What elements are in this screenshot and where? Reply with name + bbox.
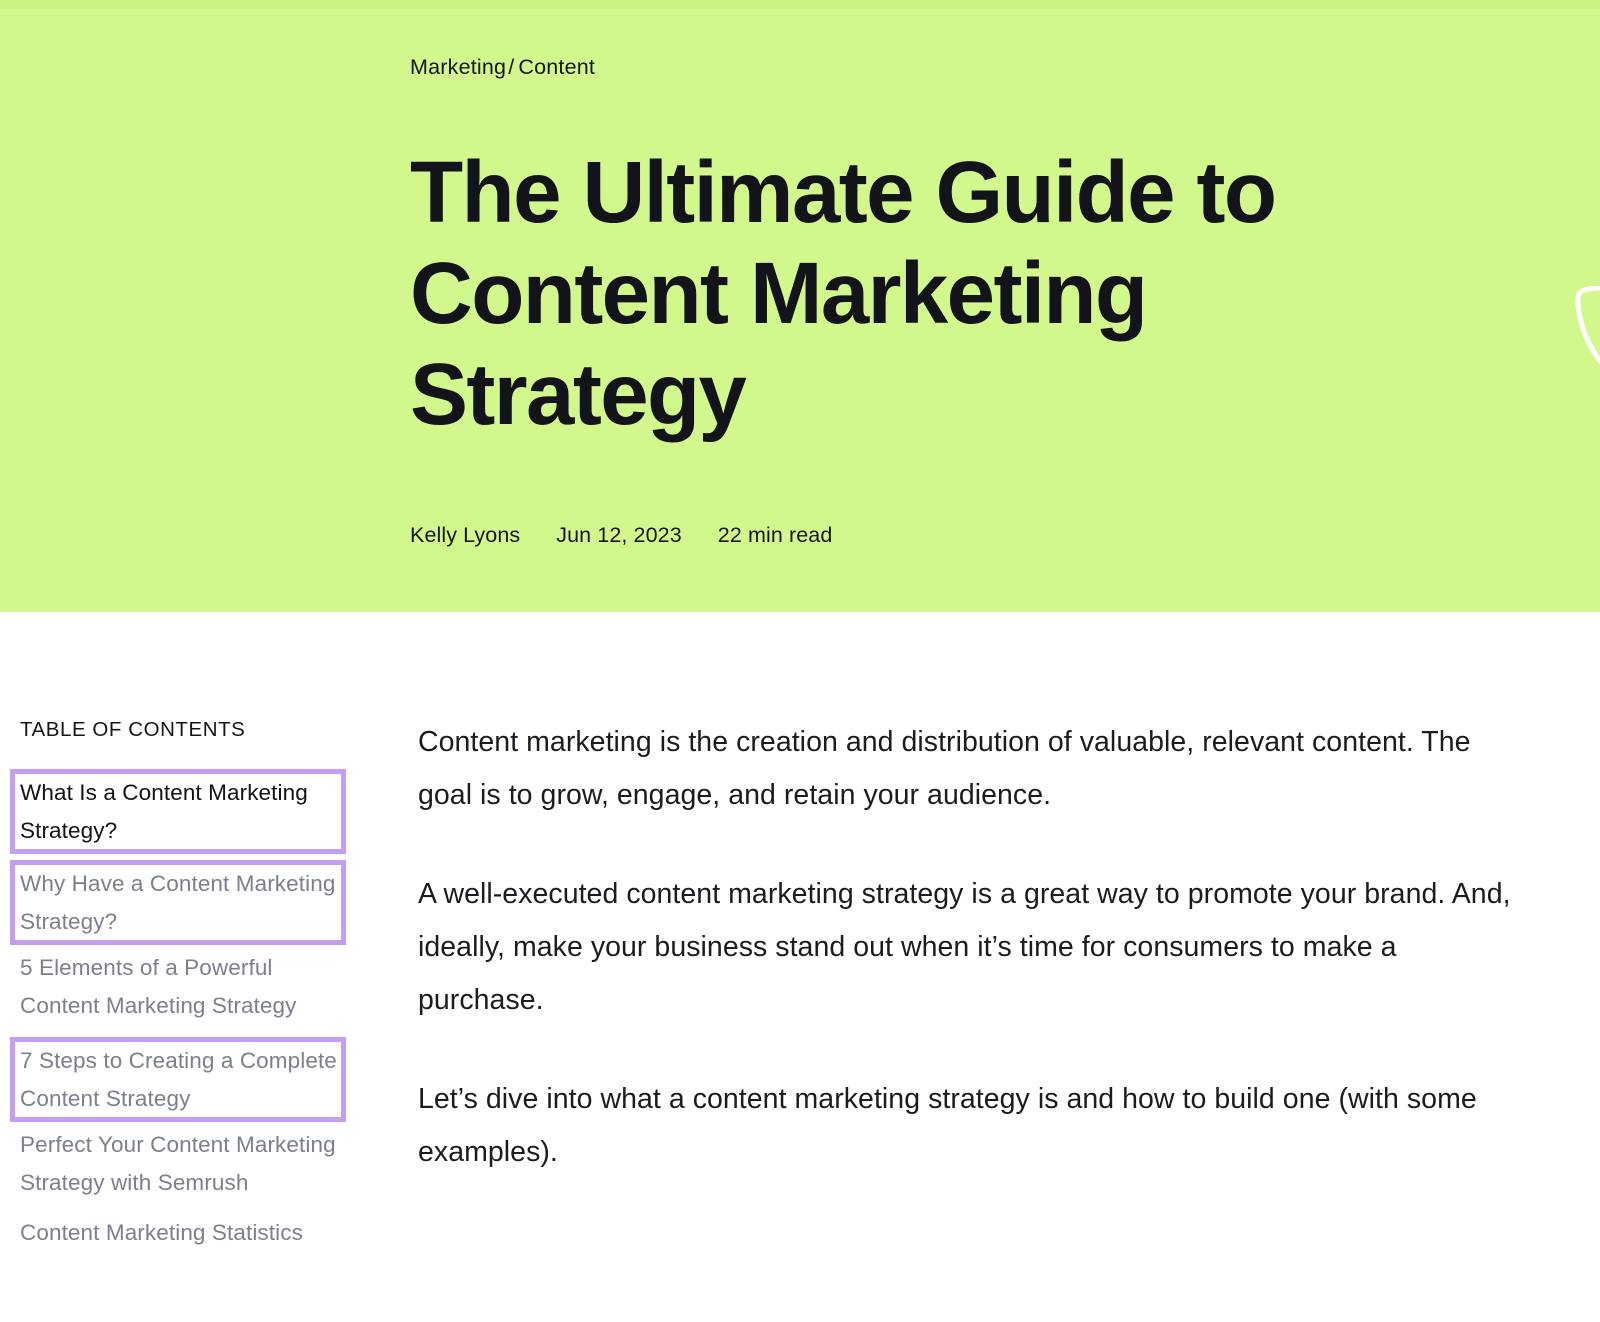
toc-item-what-is-a-content-marketing-strategy[interactable]: What Is a Content Marketing Strategy?: [10, 769, 346, 854]
article-paragraph: Content marketing is the creation and di…: [418, 716, 1528, 822]
content-area: TABLE OF CONTENTS What Is a Content Mark…: [0, 612, 1600, 1265]
leaf-outline-icon: [1560, 286, 1600, 370]
article-page: Marketing/Content The Ultimate Guide to …: [0, 0, 1600, 1322]
breadcrumb-current[interactable]: Content: [518, 55, 595, 79]
toc-item-perfect-your-content-marketing-strategy-with-semrush[interactable]: Perfect Your Content Marketing Strategy …: [20, 1126, 338, 1201]
breadcrumb: Marketing/Content: [410, 55, 1470, 80]
article-meta: Kelly Lyons Jun 12, 2023 22 min read: [410, 523, 1470, 548]
breadcrumb-parent[interactable]: Marketing: [410, 55, 506, 79]
hero-banner: Marketing/Content The Ultimate Guide to …: [0, 0, 1600, 612]
article-paragraph: A well-executed content marketing strate…: [418, 868, 1528, 1027]
toc-item-content-marketing-statistics[interactable]: Content Marketing Statistics: [20, 1214, 338, 1252]
page-title: The Ultimate Guide to Content Marketing …: [410, 142, 1310, 445]
toc-list: What Is a Content Marketing Strategy? Wh…: [20, 769, 410, 1252]
hero-content: Marketing/Content The Ultimate Guide to …: [410, 0, 1470, 548]
article-paragraph: Let’s dive into what a content marketing…: [418, 1073, 1528, 1179]
author-name: Kelly Lyons: [410, 523, 520, 548]
toc-item-5-elements-of-a-powerful-content-marketing-strategy[interactable]: 5 Elements of a Powerful Content Marketi…: [20, 949, 338, 1024]
breadcrumb-separator: /: [508, 55, 514, 79]
table-of-contents: TABLE OF CONTENTS What Is a Content Mark…: [0, 612, 410, 1265]
toc-item-why-have-a-content-marketing-strategy[interactable]: Why Have a Content Marketing Strategy?: [10, 860, 346, 945]
read-time: 22 min read: [718, 523, 833, 548]
toc-item-7-steps-to-creating-a-complete-content-strategy[interactable]: 7 Steps to Creating a Complete Content S…: [10, 1037, 346, 1122]
article-body: Content marketing is the creation and di…: [410, 612, 1600, 1179]
publish-date: Jun 12, 2023: [556, 523, 682, 548]
toc-heading: TABLE OF CONTENTS: [20, 718, 410, 742]
